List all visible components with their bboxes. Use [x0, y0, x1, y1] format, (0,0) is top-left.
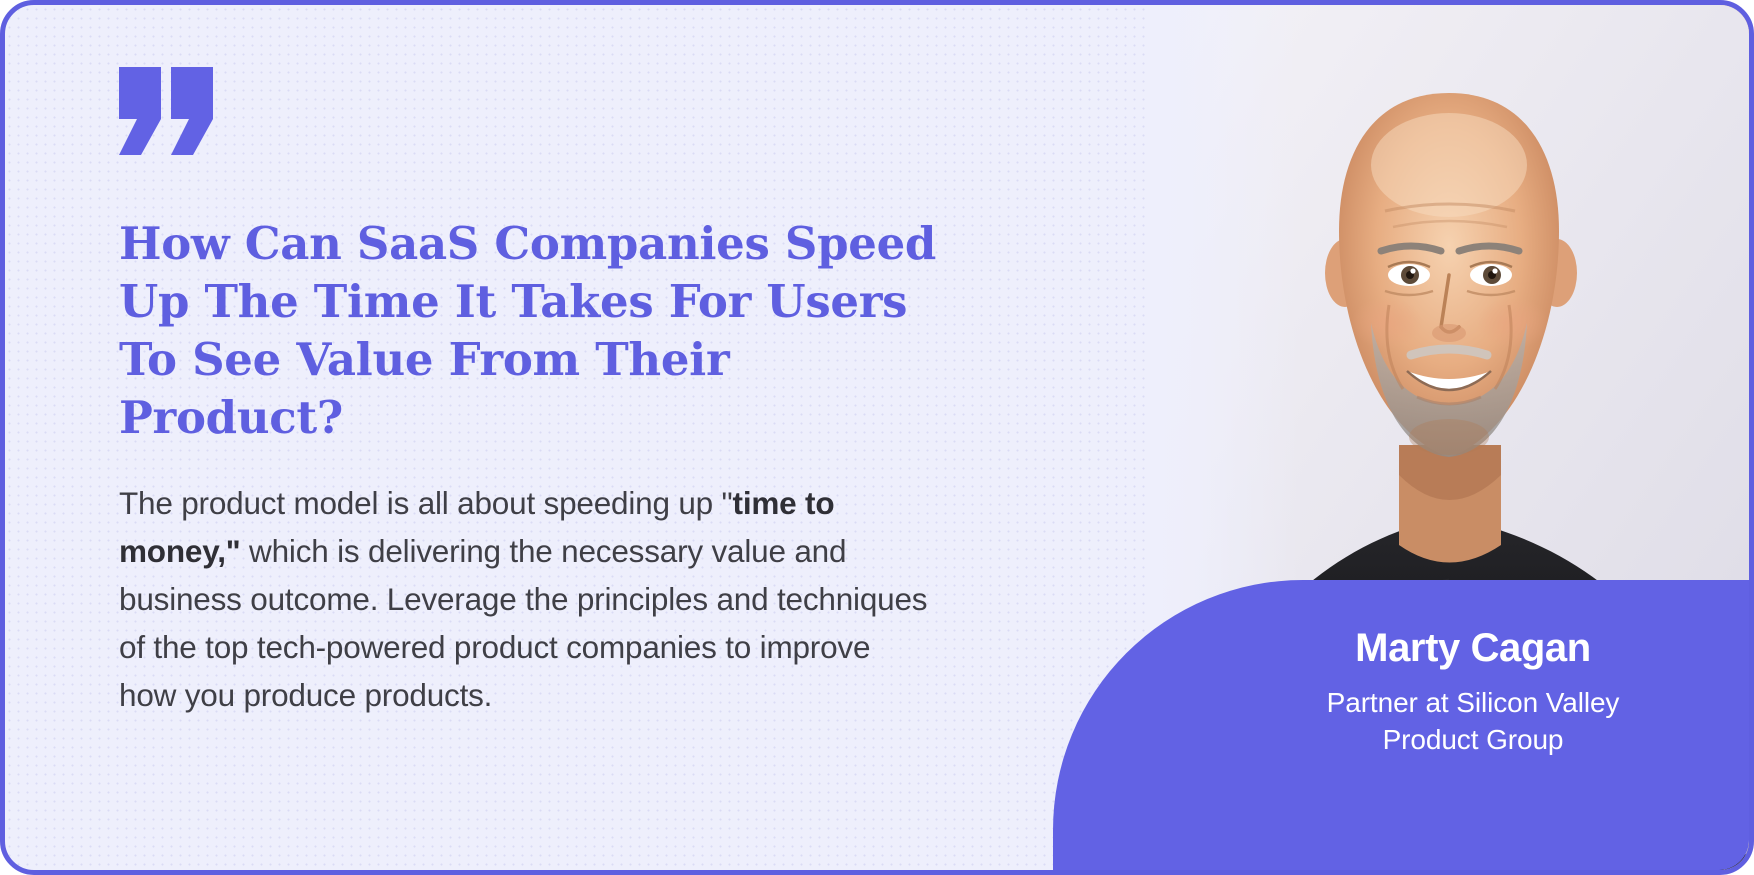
quote-body: The product model is all about speeding …: [119, 479, 934, 719]
closing-double-quote-icon: [119, 67, 219, 155]
quote-body-text: which is delivering the necessary value …: [119, 533, 927, 713]
person-role: Partner at Silicon Valley Product Group: [1243, 684, 1703, 758]
person-name: Marty Cagan: [1243, 624, 1703, 672]
quote-content: How Can SaaS Companies Speed Up The Time…: [119, 67, 949, 719]
quote-body-text: The product model is all about speeding …: [119, 485, 733, 521]
page-title: How Can SaaS Companies Speed Up The Time…: [119, 215, 949, 447]
testimonial-quote-card: Marty Cagan Partner at Silicon Valley Pr…: [0, 0, 1754, 875]
